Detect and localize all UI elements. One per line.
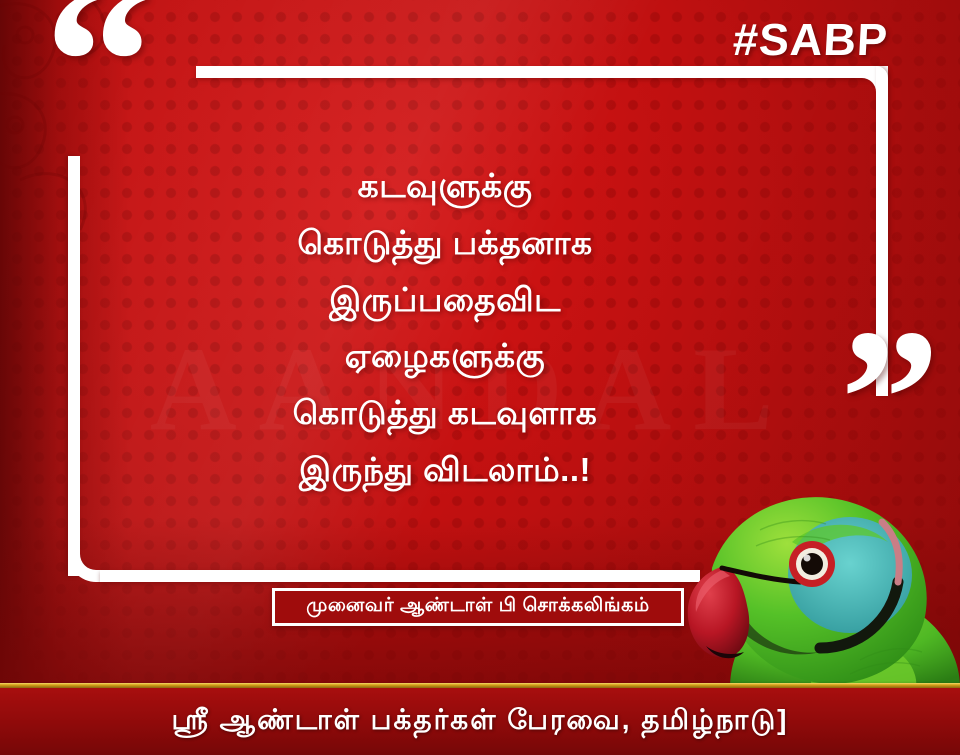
- quote-line: கடவுளுக்கு: [190, 158, 700, 215]
- quote-open-icon: “: [44, 0, 154, 172]
- quote-line: இருப்பதைவிட: [190, 272, 700, 329]
- quote-poster: AANDAL #SABP “ ” கடவுளுக்கு கொடுத்து பக்…: [0, 0, 960, 755]
- frame-top-line: [196, 66, 888, 78]
- poster-main-area: AANDAL #SABP “ ” கடவுளுக்கு கொடுத்து பக்…: [0, 0, 960, 688]
- organization-name: ஸ்ரீ ஆண்டாள் பக்தர்கள் பேரவை, தமிழ்நாடு]: [171, 704, 788, 740]
- frame-left-line: [68, 156, 80, 576]
- parrot-icon: [660, 470, 960, 688]
- quote-line: ஏழைகளுக்கு: [190, 328, 700, 385]
- quote-text-block: கடவுளுக்கு கொடுத்து பக்தனாக இருப்பதைவிட …: [190, 158, 700, 499]
- hashtag-label: #SABP: [732, 14, 890, 66]
- frame-bottom-line: [100, 570, 700, 582]
- quote-line: கொடுத்து கடவுளாக: [190, 385, 700, 442]
- parrot-illustration: [660, 470, 960, 688]
- bottom-banner: ஸ்ரீ ஆண்டாள் பக்தர்கள் பேரவை, தமிழ்நாடு]: [0, 688, 960, 755]
- attribution-box: முனைவர் ஆண்டாள் பி சொக்கலிங்கம்: [272, 588, 684, 626]
- quote-line: இருந்து விடலாம்..!: [190, 442, 700, 499]
- attribution-text: முனைவர் ஆண்டாள் பி சொக்கலிங்கம்: [306, 595, 650, 619]
- quote-line: கொடுத்து பக்தனாக: [190, 215, 700, 272]
